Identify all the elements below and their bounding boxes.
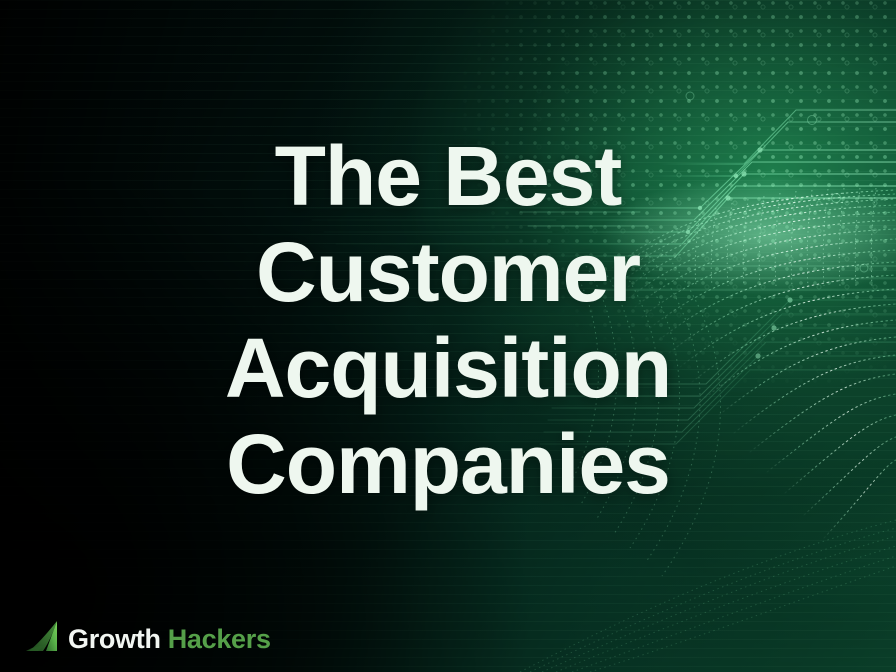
title-line-1: The Best [0,128,896,224]
banner-title: The Best Customer Acquisition Companies [0,128,896,512]
logo-word-growth: Growth [68,624,161,654]
logo-wordmark: GrowthHackers [68,624,271,654]
growth-arrow-mark-icon [26,620,66,654]
growth-hackers-logo[interactable]: GrowthHackers [26,620,271,654]
title-line-4: Companies [0,416,896,512]
promo-banner: The Best Customer Acquisition Companies [0,0,896,672]
logo-word-hackers: Hackers [168,624,271,654]
title-line-3: Acquisition [0,320,896,416]
title-line-2: Customer [0,224,896,320]
